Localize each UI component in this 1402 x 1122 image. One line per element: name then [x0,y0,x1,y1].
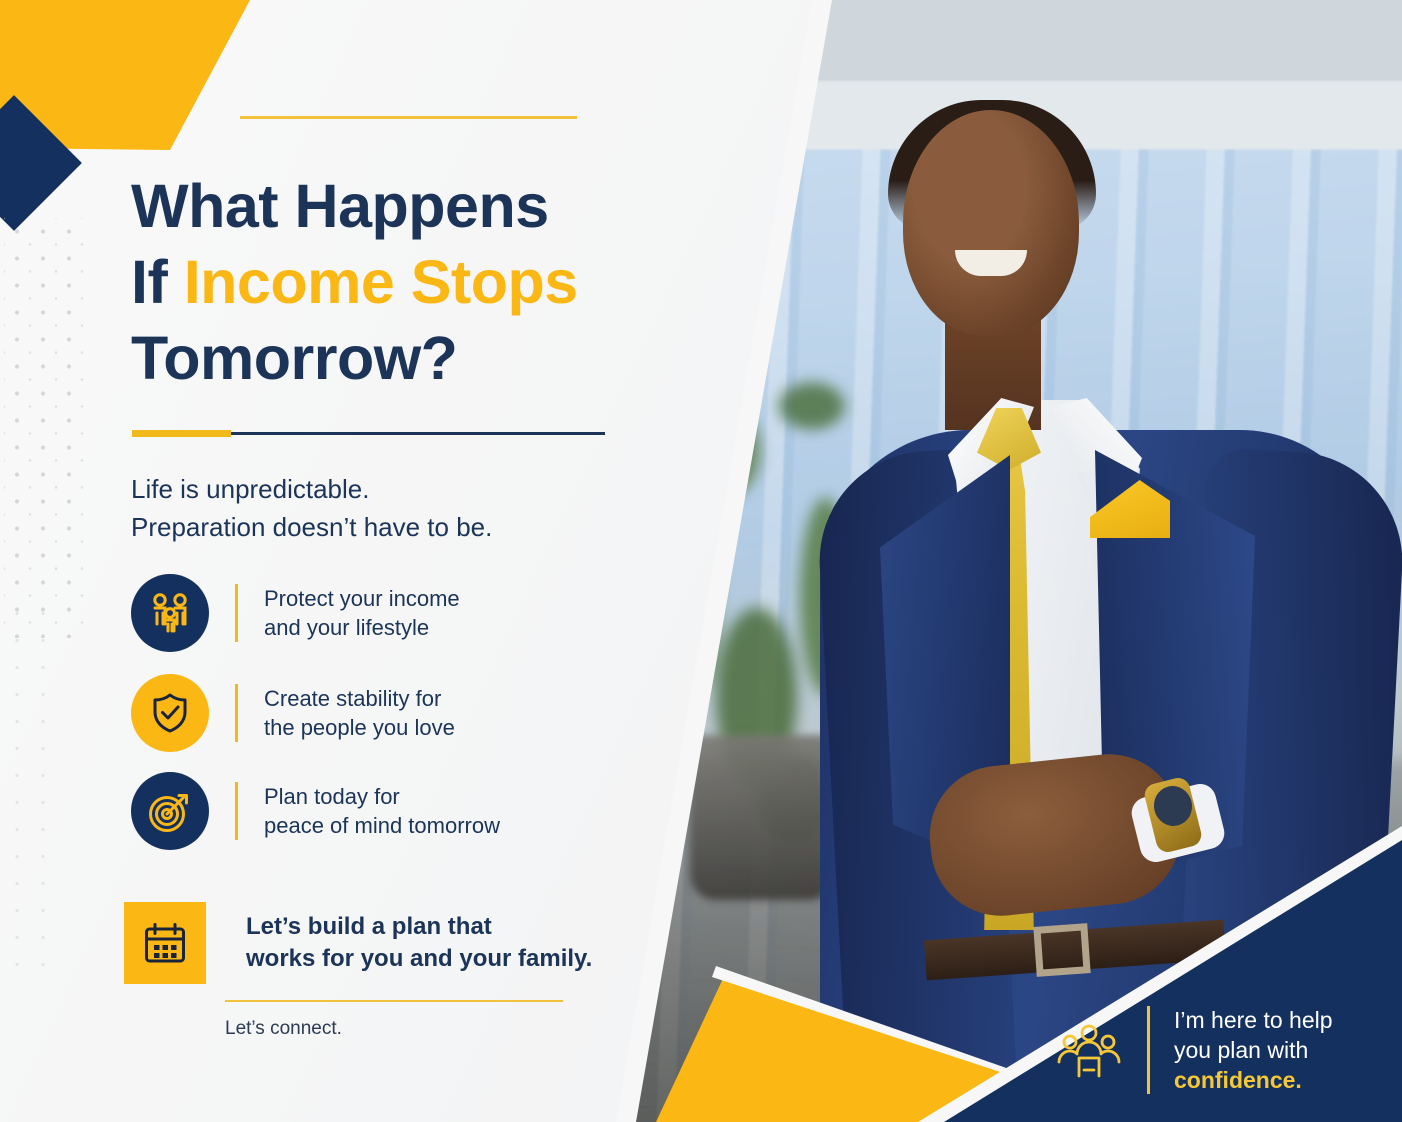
list-item-label: Create stability for the people you love [264,684,455,742]
page-title: What Happens If Income Stops Tomorrow? [131,168,661,396]
headline-line-3: Tomorrow? [131,324,457,392]
subheading: Life is unpredictable. Preparation doesn… [131,470,611,546]
divider-navy-segment [231,432,605,435]
target-arrow-icon [131,772,209,850]
headline-line-2-plain: If [131,248,184,316]
footer-label-accent: confidence. [1174,1065,1333,1095]
list-item-label-line-1: Plan today for [264,782,500,811]
list-item-label-line-1: Protect your income [264,584,460,613]
poster-canvas: What Happens If Income Stops Tomorrow? L… [0,0,1402,1122]
shield-check-icon [131,674,209,752]
calendar-icon [124,902,206,984]
connect-label[interactable]: Let’s connect. [225,1018,342,1040]
benefit-list: Protect your income and your lifestyle C… [131,565,631,863]
family-icon [131,574,209,652]
cta-accent-rule [225,1000,563,1002]
footer-divider [1147,1006,1150,1094]
footer-label-line-1: I’m here to help [1174,1005,1333,1035]
footer-label-line-2: you plan with [1174,1035,1333,1065]
footer-content: I’m here to help you plan with confidenc… [1055,1005,1333,1095]
list-item-label-line-1: Create stability for [264,684,455,713]
headline-line-2-accent: Income Stops [184,248,578,316]
cta-block[interactable]: Let’s build a plan that works for you an… [124,902,592,984]
cta-label: Let’s build a plan that works for you an… [246,911,592,975]
list-item: Protect your income and your lifestyle [131,565,631,661]
subheading-line-1: Life is unpredictable. [131,470,611,508]
list-item-label-line-2: peace of mind tomorrow [264,811,500,840]
list-item-divider [235,584,238,642]
list-item-divider [235,782,238,840]
belt-buckle [1033,923,1090,977]
face [903,110,1079,336]
subheading-line-2: Preparation doesn’t have to be. [131,508,611,546]
group-people-icon [1055,1020,1123,1080]
left-content: What Happens If Income Stops Tomorrow? L… [0,0,660,1122]
list-item: Create stability for the people you love [131,665,631,761]
list-item-label-line-2: the people you love [264,713,455,742]
headline-line-1: What Happens [131,172,549,240]
divider-yellow-segment [132,430,231,437]
top-accent-rule [240,116,577,119]
list-item-label: Plan today for peace of mind tomorrow [264,782,500,840]
list-item-divider [235,684,238,742]
list-item: Plan today for peace of mind tomorrow [131,763,631,859]
list-item-label-line-2: and your lifestyle [264,613,460,642]
footer-label: I’m here to help you plan with confidenc… [1174,1005,1333,1095]
cta-label-line-2: works for you and your family. [246,943,592,975]
cta-label-line-1: Let’s build a plan that [246,911,592,943]
list-item-label: Protect your income and your lifestyle [264,584,460,642]
